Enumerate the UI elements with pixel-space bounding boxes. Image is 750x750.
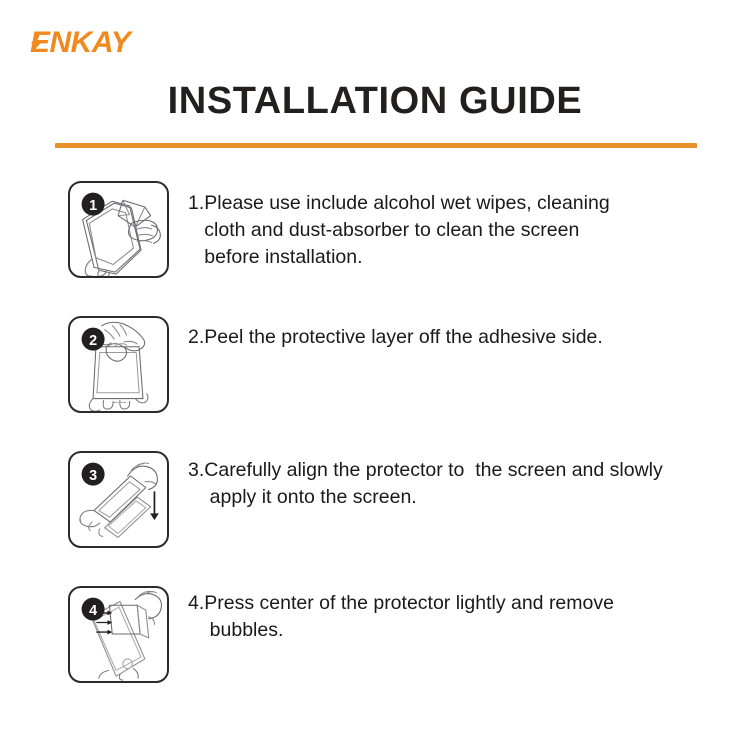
step-3-illustration: 3 <box>68 451 169 548</box>
page-title: INSTALLATION GUIDE <box>0 78 750 124</box>
down-arrow-icon <box>150 491 159 520</box>
peel-protective-layer-icon: 2 <box>70 318 167 411</box>
align-protector-to-screen-icon: 3 <box>70 453 167 546</box>
step-2-text: 2.Peel the protective layer off the adhe… <box>188 324 708 351</box>
step-1-illustration: 1 <box>68 181 169 278</box>
step-4-illustration: 4 <box>68 586 169 683</box>
header-divider <box>55 143 697 148</box>
step-1-text: 1.Please use include alcohol wet wipes, … <box>188 190 708 271</box>
lightning-bolt-icon <box>29 32 45 52</box>
installation-guide-page: ENKAY INSTALLATION GUIDE <box>0 0 750 750</box>
brand-name: ENKAY <box>30 23 180 63</box>
svg-text:4: 4 <box>89 603 97 619</box>
press-center-remove-bubbles-icon: 4 <box>70 588 167 681</box>
svg-text:1: 1 <box>89 198 97 214</box>
step-2-illustration: 2 <box>68 316 169 413</box>
svg-text:3: 3 <box>89 468 97 484</box>
brand-logo: ENKAY <box>30 23 180 63</box>
step-4-text: 4.Press center of the protector lightly … <box>188 590 708 644</box>
wipe-screen-with-cloth-icon: 1 <box>70 183 167 276</box>
svg-text:2: 2 <box>89 333 97 349</box>
step-3-text: 3.Carefully align the protector to the s… <box>188 457 708 511</box>
